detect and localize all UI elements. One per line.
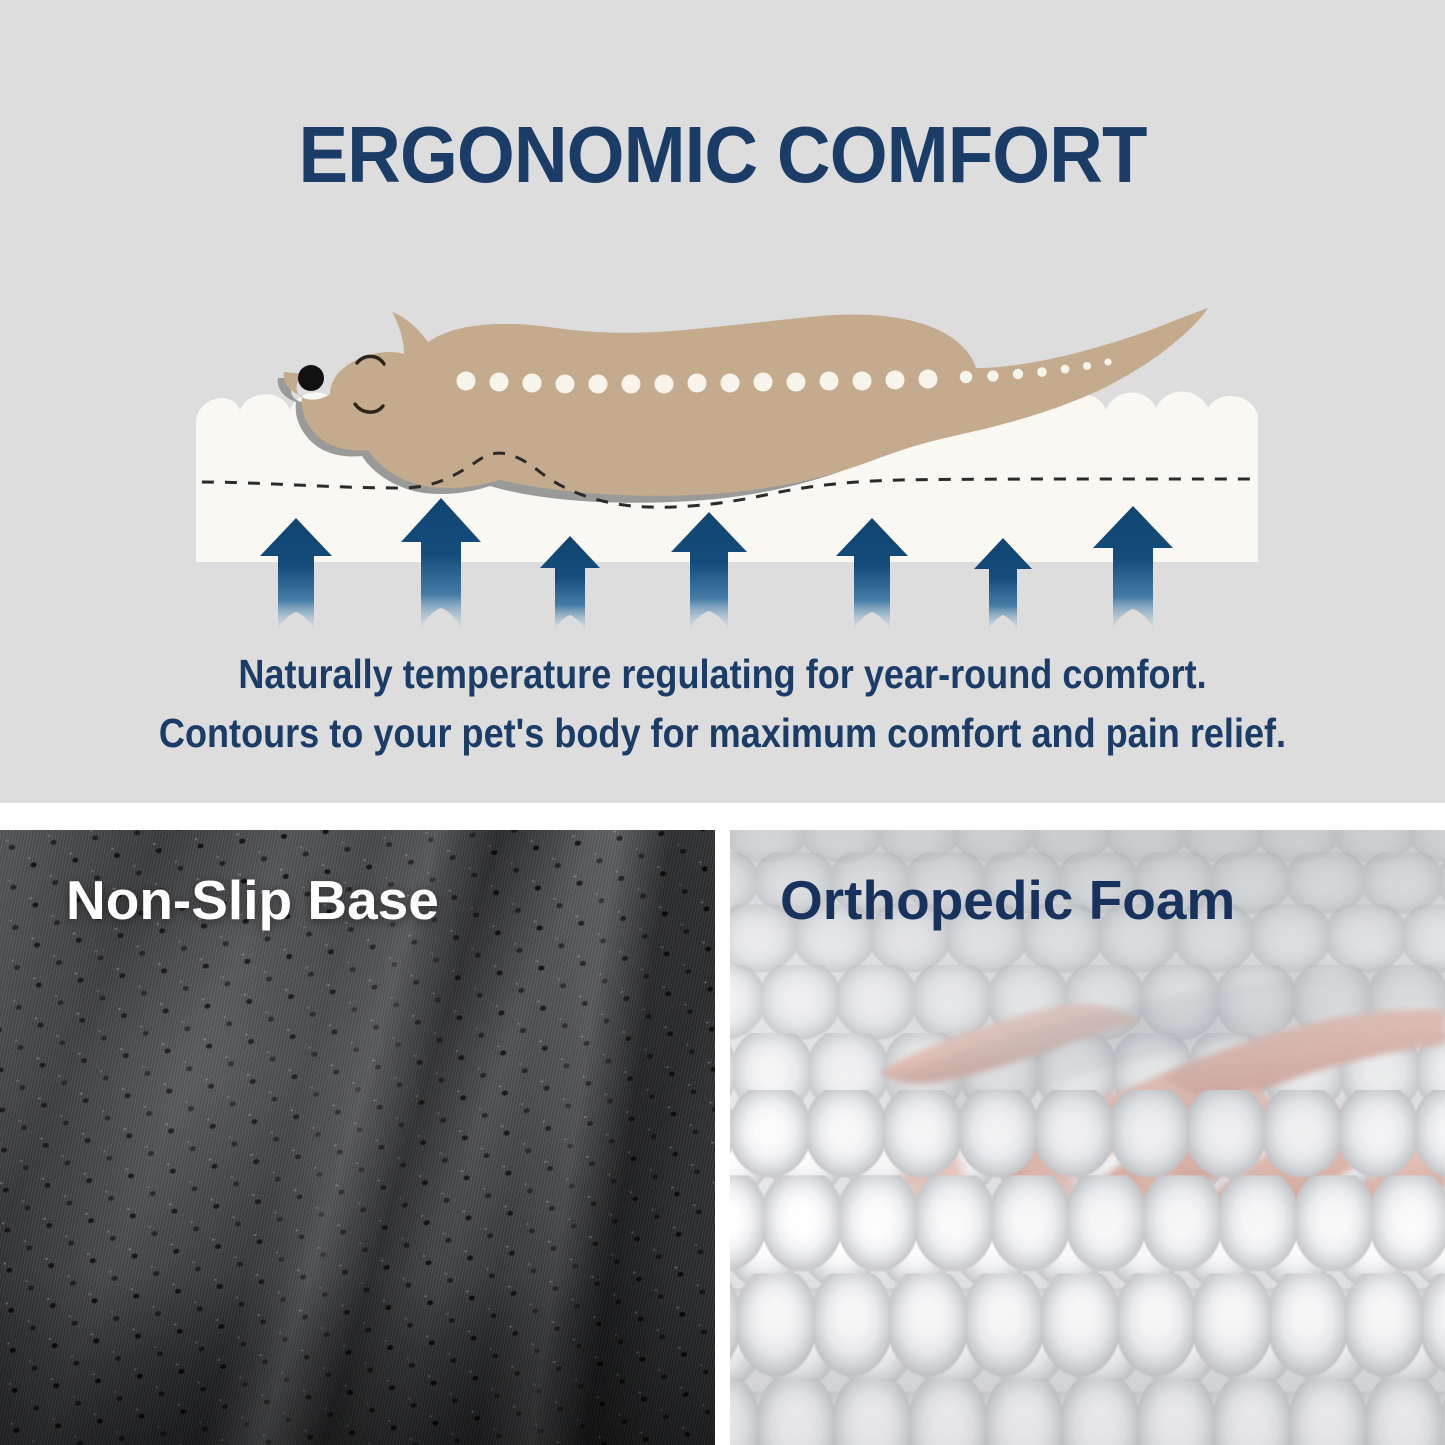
panel-label-orthopedic-foam: Orthopedic Foam [780, 870, 1235, 930]
product-infographic: ERGONOMIC COMFORT [0, 0, 1445, 1445]
caption-line-1: Naturally temperature regulating for yea… [87, 645, 1359, 704]
hero-caption: Naturally temperature regulating for yea… [87, 645, 1359, 763]
ergonomic-comfort-diagram [0, 250, 1445, 630]
dog-nose [298, 365, 324, 391]
hero-section: ERGONOMIC COMFORT [0, 0, 1445, 803]
page-title: ERGONOMIC COMFORT [51, 112, 1395, 198]
caption-line-2: Contours to your pet's body for maximum … [87, 704, 1359, 763]
panel-label-non-slip-base: Non-Slip Base [66, 870, 439, 930]
